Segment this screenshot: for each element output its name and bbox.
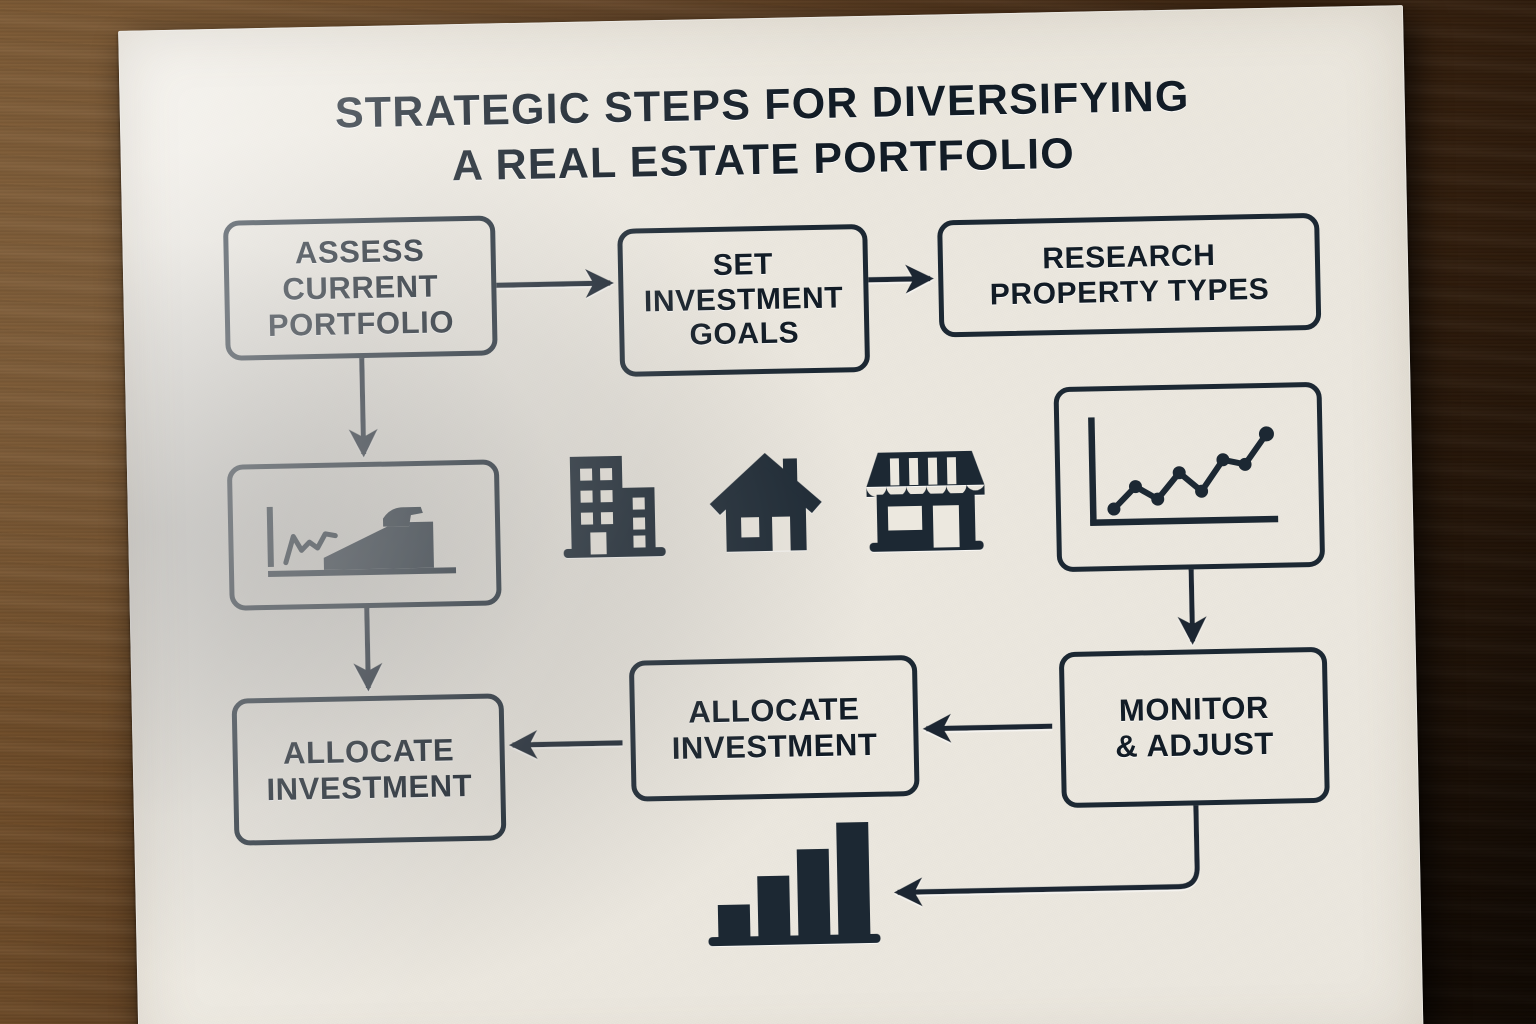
paper-edge-shading [118,5,1424,1024]
scene: STRATEGIC STEPS FOR DIVERSIFYING A REAL … [0,0,1536,1024]
paper-sheet: STRATEGIC STEPS FOR DIVERSIFYING A REAL … [118,5,1424,1024]
paper-sheet-wrapper: STRATEGIC STEPS FOR DIVERSIFYING A REAL … [118,5,1424,1024]
